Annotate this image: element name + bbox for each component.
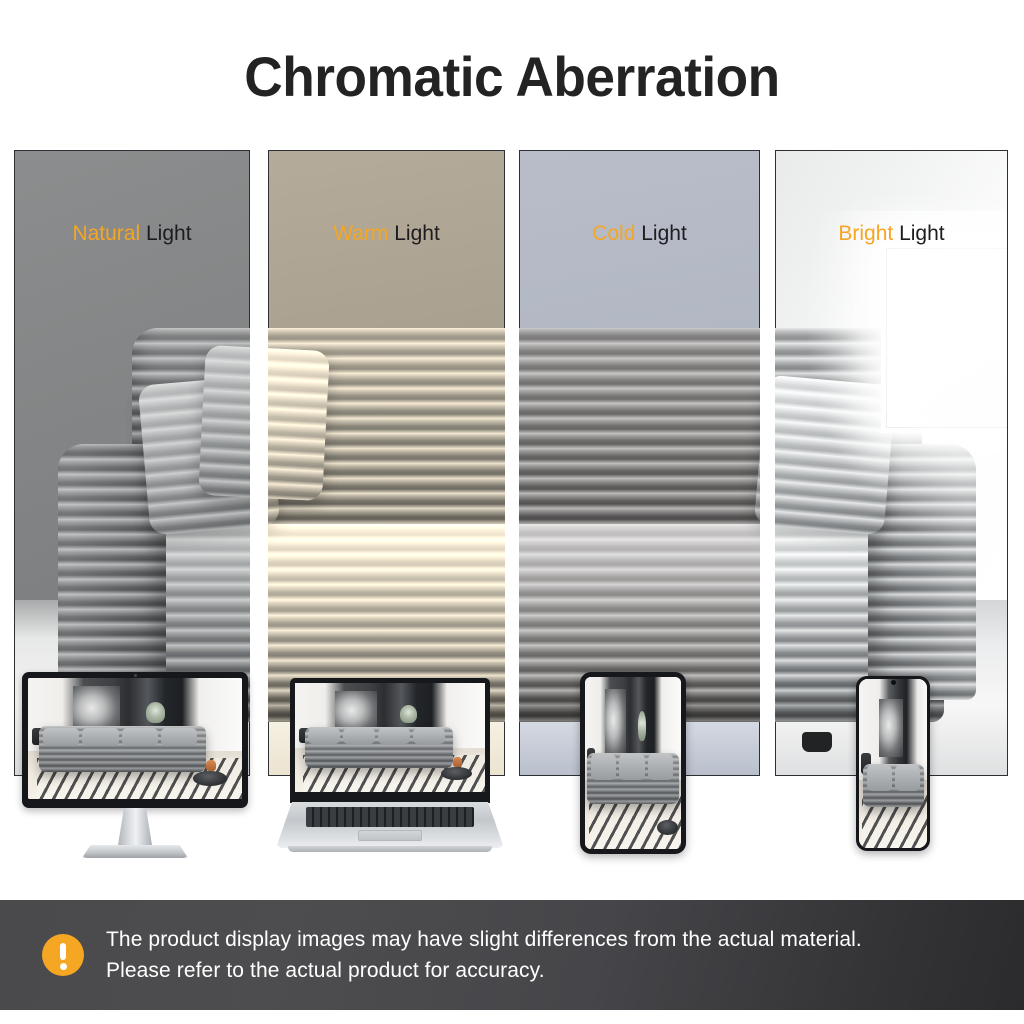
monitor-stand-base — [82, 845, 188, 858]
living-room-photo — [295, 683, 485, 792]
sofa-seat — [775, 524, 944, 610]
panel-label-rest: Light — [893, 222, 944, 245]
living-room-photo — [859, 679, 927, 848]
tablet-bezel — [580, 672, 686, 854]
disclaimer-line-1: The product display images may have slig… — [106, 924, 862, 955]
tablet-screen — [585, 677, 681, 849]
panel-label-bright: Bright Light — [775, 222, 1008, 246]
living-room-photo — [28, 678, 242, 799]
sofa-pillow — [198, 345, 250, 501]
laptop-keyboard — [306, 807, 474, 827]
panel-label-warm: Warm Light — [268, 222, 505, 246]
panel-label-accent: Bright — [838, 222, 893, 245]
sofa-arm-left — [58, 444, 166, 700]
sofa-back-cushions — [132, 328, 250, 546]
laptop-keyboard-deck — [276, 802, 504, 848]
webcam-icon — [134, 674, 137, 677]
page-title: Chromatic Aberration — [26, 44, 999, 109]
sofa-back-cushions — [519, 328, 760, 546]
phone-bezel — [856, 676, 930, 851]
disclaimer-bar: The product display images may have slig… — [0, 900, 1024, 1010]
panel-label-accent: Cold — [592, 222, 635, 245]
panel-label-cold: Cold Light — [519, 222, 760, 246]
infographic-page: Chromatic Aberration — [0, 0, 1024, 1024]
sofa-render — [268, 328, 505, 738]
device-desktop-monitor — [22, 672, 248, 864]
laptop-base-edge — [288, 846, 492, 852]
panel-label-rest: Light — [140, 222, 191, 245]
sofa-pillow — [268, 375, 280, 536]
window-icon — [881, 243, 1008, 433]
device-laptop — [276, 678, 504, 860]
sofa-pillow — [754, 375, 760, 536]
monitor-bezel — [22, 672, 248, 808]
sofa-arm-right — [868, 444, 976, 700]
laptop-trackpad — [358, 830, 422, 841]
monitor-stand-neck — [112, 808, 158, 848]
device-smartphone — [856, 676, 930, 851]
sofa-pillow — [138, 375, 250, 536]
sofa-pillow — [775, 375, 896, 536]
sofa-back-cushions — [268, 328, 505, 546]
panel-label-rest: Light — [388, 222, 439, 245]
sofa-pillow — [268, 345, 330, 501]
disclaimer-line-2: Please refer to the actual product for a… — [106, 955, 862, 986]
panel-label-rest: Light — [635, 222, 686, 245]
panel-label-accent: Warm — [333, 222, 388, 245]
phone-screen — [859, 679, 927, 848]
laptop-lid — [290, 678, 490, 803]
sofa-leg — [802, 732, 832, 752]
sofa-seat — [108, 524, 250, 610]
living-room-photo — [585, 677, 681, 849]
disclaimer-text: The product display images may have slig… — [106, 924, 862, 986]
panel-label-natural: Natural Light — [14, 222, 250, 246]
front-camera-icon — [891, 680, 896, 685]
device-tablet — [580, 672, 686, 854]
sofa-seat — [268, 524, 505, 610]
panel-label-accent: Natural — [72, 222, 140, 245]
monitor-screen — [28, 678, 242, 799]
laptop-screen — [295, 683, 485, 792]
sofa-seat — [519, 524, 760, 610]
warning-exclamation-icon — [42, 934, 84, 976]
